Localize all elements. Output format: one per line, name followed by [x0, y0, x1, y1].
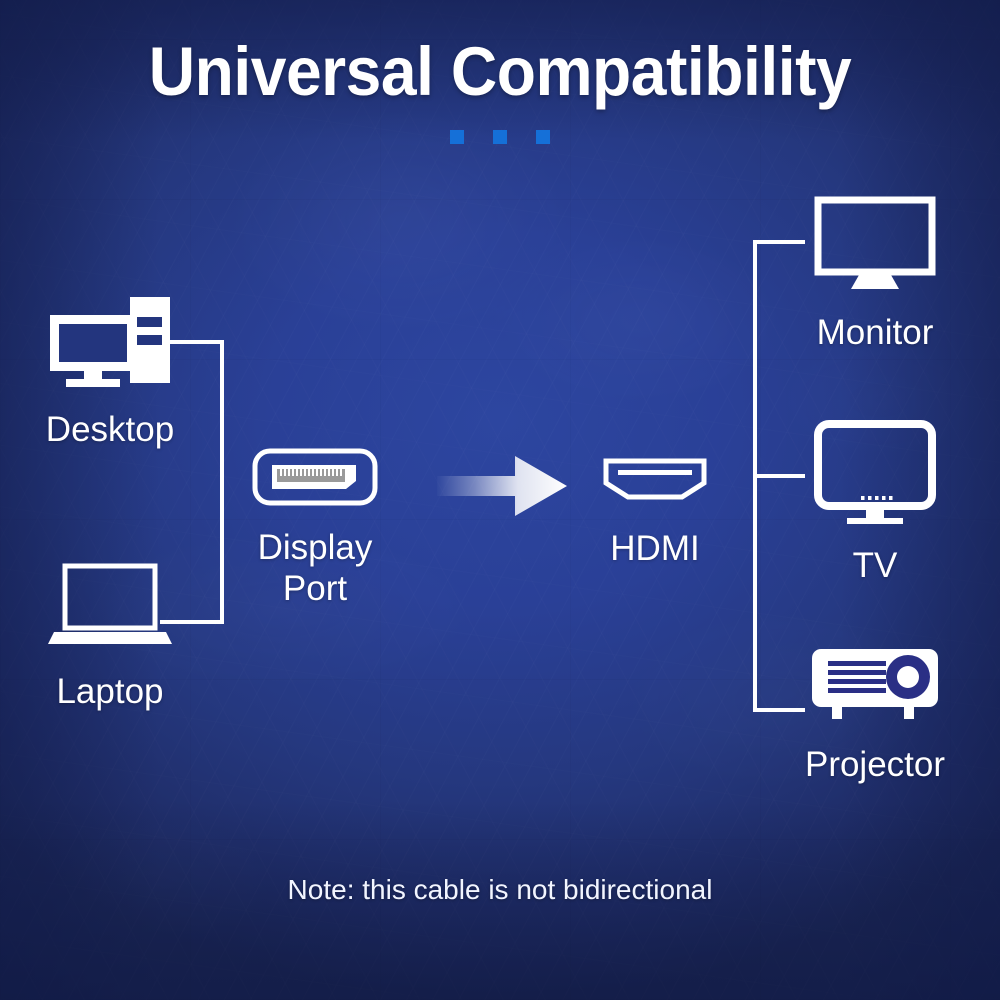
node-display-port-label: Display Port: [258, 527, 373, 609]
footer-note: Note: this cable is not bidirectional: [0, 873, 1000, 907]
dot-1-icon: [450, 130, 464, 144]
displayport-connector-icon: [252, 448, 378, 511]
node-hdmi-label: HDMI: [610, 528, 699, 569]
node-tv-label: TV: [853, 545, 898, 586]
laptop-icon: [44, 560, 176, 655]
node-hdmi[interactable]: HDMI: [565, 455, 745, 569]
node-display-port[interactable]: Display Port: [200, 448, 430, 609]
right-arrow-icon: [437, 450, 569, 522]
node-projector-label: Projector: [805, 744, 945, 785]
monitor-icon: [813, 195, 937, 300]
hdmi-connector-icon: [600, 455, 710, 510]
node-desktop-label: Desktop: [46, 409, 174, 450]
page-title: Universal Compatibility: [35, 32, 965, 112]
node-monitor-label: Monitor: [817, 312, 934, 353]
node-projector[interactable]: Projector: [780, 645, 970, 785]
node-tv[interactable]: TV: [780, 420, 970, 586]
dot-2-icon: [493, 130, 507, 144]
title-dots-decoration: [0, 130, 1000, 144]
desktop-computer-icon: [44, 295, 176, 395]
node-laptop[interactable]: Laptop: [0, 560, 220, 712]
tv-icon: [813, 420, 937, 533]
node-desktop[interactable]: Desktop: [0, 295, 220, 450]
node-laptop-label: Laptop: [56, 671, 163, 712]
node-monitor[interactable]: Monitor: [780, 195, 970, 353]
projector-icon: [808, 645, 942, 730]
infographic-canvas: Universal Compatibility Desktop: [0, 0, 1000, 1000]
dot-3-icon: [536, 130, 550, 144]
